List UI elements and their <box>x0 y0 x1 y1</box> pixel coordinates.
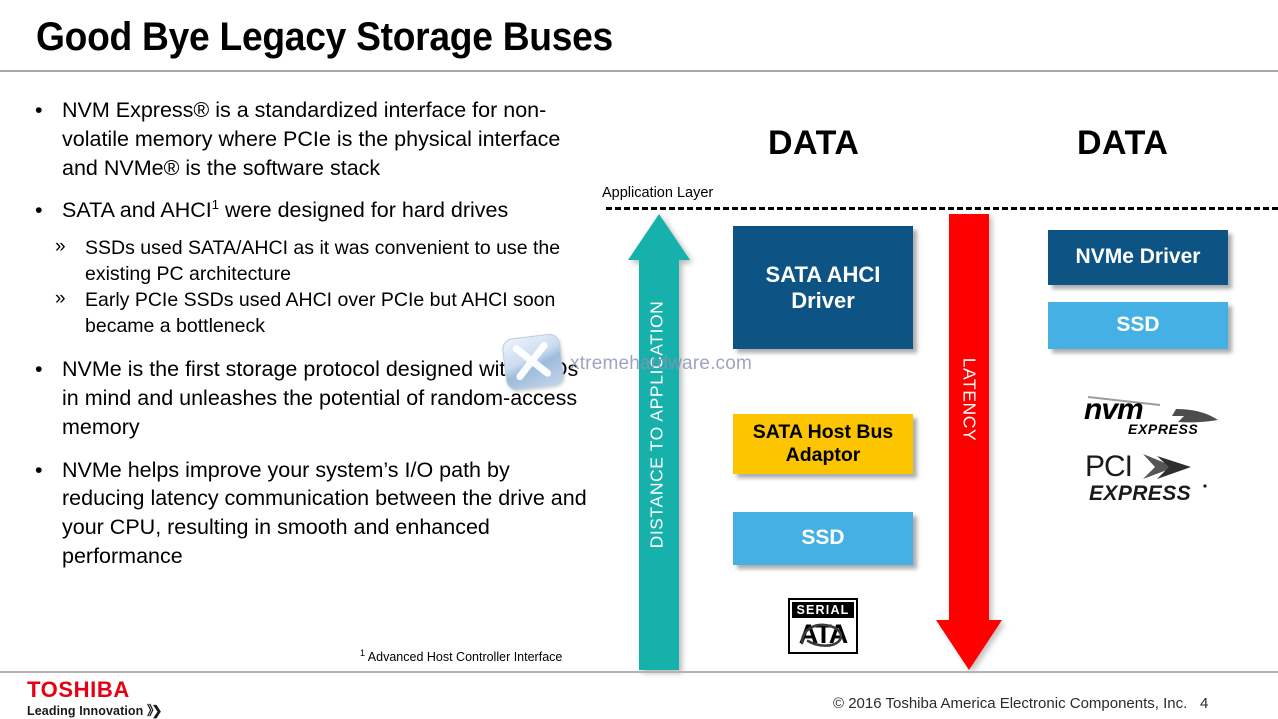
sub-bullet-text: Early PCIe SSDs used AHCI over PCIe but … <box>85 289 555 337</box>
data-label-legacy: DATA <box>768 124 859 163</box>
data-label-nvme: DATA <box>1077 124 1168 163</box>
stack-box-nvme-ssd: SSD <box>1048 302 1228 349</box>
footnote-ref: 1 <box>212 197 219 212</box>
bullet-marker: • <box>35 96 43 125</box>
bullet-item: • SATA and AHCI1 were designed for hard … <box>30 196 590 225</box>
chevrons-icon: 》❯ <box>147 703 160 718</box>
footer-divider <box>0 671 1278 673</box>
pci-express-logo-icon: PCI EXPRESS <box>1083 448 1218 504</box>
footnote-text: Advanced Host Controller Interface <box>365 650 562 664</box>
pci-wordmark: PCI <box>1085 450 1132 483</box>
serial-ata-logo-top-text: SERIAL <box>792 602 854 618</box>
nvm-express-wordmark: EXPRESS <box>1128 421 1198 437</box>
distance-arrow-label: DISTANCE TO APPLICATION <box>647 230 668 620</box>
bullet-marker: • <box>35 355 43 384</box>
serial-ata-swoosh-icon <box>794 617 854 653</box>
copyright-notice: © 2016 Toshiba America Electronic Compon… <box>833 695 1187 712</box>
application-layer-label: Application Layer <box>602 185 713 201</box>
pci-express-wordmark: EXPRESS <box>1089 482 1191 504</box>
bullet-text: NVM Express® is a standardized interface… <box>62 98 560 180</box>
sub-bullet-text: SSDs used SATA/AHCI as it was convenient… <box>85 237 560 285</box>
distance-to-application-arrow-icon: DISTANCE TO APPLICATION <box>628 214 690 670</box>
title-divider <box>0 70 1278 72</box>
sub-bullet-marker: » <box>55 286 66 312</box>
bullet-list: • NVM Express® is a standardized interfa… <box>30 96 590 579</box>
bullet-item: • NVMe helps improve your system’s I/O p… <box>30 456 590 571</box>
toshiba-logo: TOSHIBA Leading Innovation 》❯ <box>27 679 160 719</box>
page-title: Good Bye Legacy Storage Buses <box>36 15 613 60</box>
bullet-text: NVMe helps improve your system’s I/O pat… <box>62 458 587 568</box>
toshiba-tagline-text: Leading Innovation <box>27 704 143 718</box>
application-layer-divider <box>606 207 1278 210</box>
bullet-text: SATA and AHCI <box>62 198 212 222</box>
serial-ata-logo-icon: SERIAL ATA <box>788 598 858 654</box>
storage-stack-diagram: DATA DATA Application Layer DISTANCE TO … <box>590 96 1278 666</box>
bullet-marker: • <box>35 456 43 485</box>
bullet-item: • NVM Express® is a standardized interfa… <box>30 96 590 182</box>
stack-box-nvme-driver: NVMe Driver <box>1048 230 1228 285</box>
sub-bullet-item: » Early PCIe SSDs used AHCI over PCIe bu… <box>30 287 590 339</box>
footnote: 1 Advanced Host Controller Interface <box>360 650 562 664</box>
latency-arrow-icon: LATENCY <box>936 214 1002 670</box>
stack-box-sata-host-bus-adaptor: SATA Host Bus Adaptor <box>733 414 913 474</box>
sub-bullet-item: » SSDs used SATA/AHCI as it was convenie… <box>30 235 590 287</box>
nvm-express-logo-icon: nvm EXPRESS <box>1080 389 1220 441</box>
bullet-text: NVMe is the first storage protocol desig… <box>62 357 578 439</box>
page-number: 4 <box>1200 695 1208 712</box>
sub-bullet-marker: » <box>55 234 66 260</box>
bullet-item: • NVMe is the first storage protocol des… <box>30 355 590 441</box>
toshiba-brand-wordmark: TOSHIBA <box>27 679 160 701</box>
arrow-head-down <box>936 620 1002 670</box>
stack-box-sata-ssd: SSD <box>733 512 913 565</box>
bullet-marker: • <box>35 196 43 225</box>
stack-box-sata-ahci-driver: SATA AHCI Driver <box>733 226 913 349</box>
bullet-text-after: were designed for hard drives <box>219 198 508 222</box>
latency-arrow-label: LATENCY <box>959 300 980 500</box>
